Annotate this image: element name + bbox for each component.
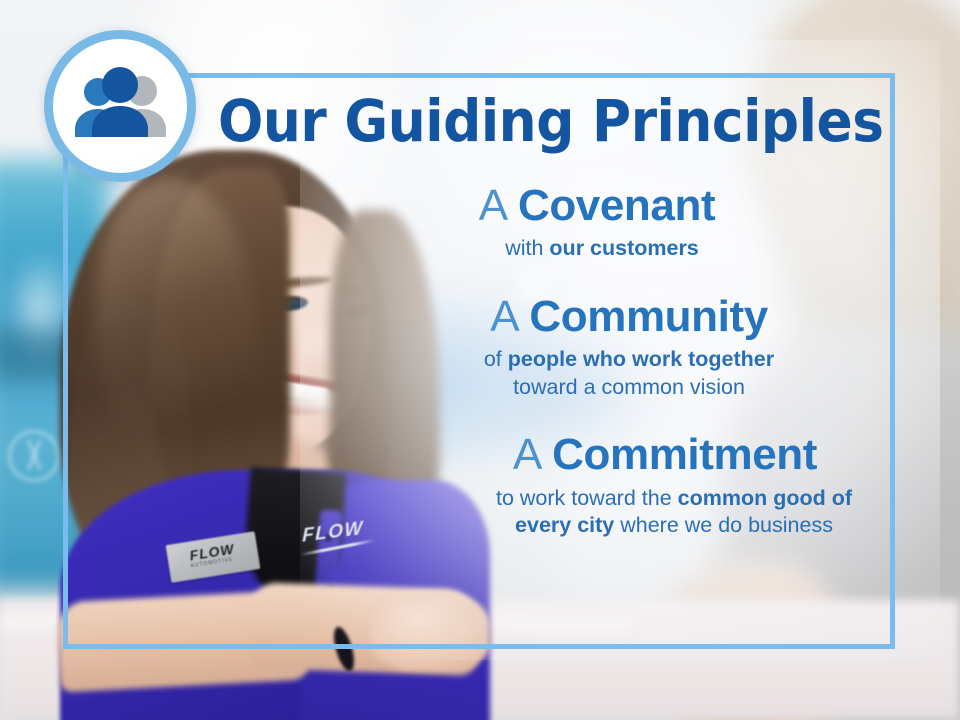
principle-community-sub-bold: people who work together xyxy=(508,347,774,371)
principle-community-article: A xyxy=(490,292,529,341)
principle-commitment-article: A xyxy=(513,430,552,479)
principle-commitment: A Commitment to work toward the common g… xyxy=(450,431,880,539)
principle-commitment-keyword: Commitment xyxy=(552,430,817,479)
principle-covenant: A Covenant with our customers xyxy=(314,182,880,263)
page-title: Our Guiding Principles xyxy=(218,92,816,151)
principle-commitment-subtitle: to work toward the common good of every … xyxy=(468,485,880,540)
guiding-principles-poster: FLOW AUTOMOTIVE FLOW Our Gui xyxy=(0,0,960,720)
principle-community-sub-plain-1: of xyxy=(484,347,508,371)
principle-commitment-sub-plain-1: to work toward the xyxy=(496,486,678,510)
people-group-icon xyxy=(53,39,187,173)
principle-commitment-title: A Commitment xyxy=(450,431,880,479)
principle-covenant-article: A xyxy=(479,181,518,230)
principle-community-sub-plain-2: toward a common vision xyxy=(513,375,745,399)
principle-commitment-sub-plain-2: where we do business xyxy=(614,513,833,537)
blurred-car-brand-logo-icon xyxy=(8,430,60,482)
principle-covenant-keyword: Covenant xyxy=(518,181,715,230)
principle-community: A Community of people who work together … xyxy=(378,293,880,401)
principle-covenant-subtitle: with our customers xyxy=(324,235,880,263)
principle-covenant-title: A Covenant xyxy=(314,182,880,230)
principle-community-subtitle: of people who work together toward a com… xyxy=(378,346,880,401)
principle-community-title: A Community xyxy=(378,293,880,341)
principle-community-keyword: Community xyxy=(529,292,767,341)
principle-covenant-sub-bold: our customers xyxy=(549,236,698,260)
employee-clasped-hands xyxy=(370,592,490,670)
people-group-badge xyxy=(44,30,196,182)
principle-covenant-sub-plain: with xyxy=(505,236,549,260)
principles-list: A Covenant with our customers A Communit… xyxy=(300,182,880,546)
